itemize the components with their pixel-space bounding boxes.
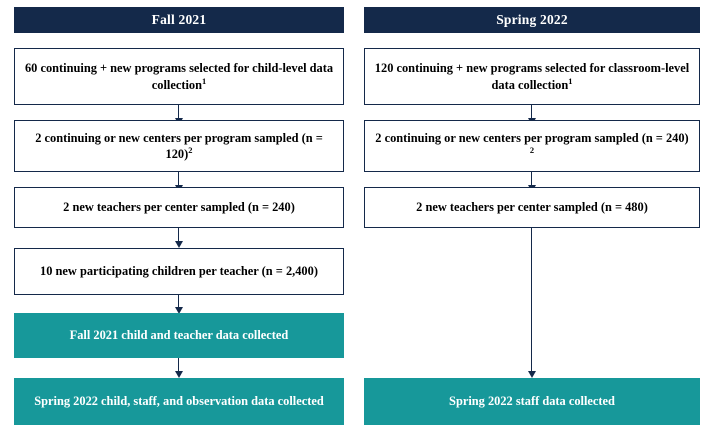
node-fall-programs-label: 60 continuing + new programs selected fo… bbox=[23, 60, 335, 93]
node-spring-centers: 2 continuing or new centers per program … bbox=[364, 120, 700, 172]
node-spring-teachers: 2 new teachers per center sampled (n = 4… bbox=[364, 187, 700, 228]
node-spring-staff-collected: Spring 2022 staff data collected bbox=[364, 378, 700, 425]
node-fall-centers-label: 2 continuing or new centers per program … bbox=[23, 130, 335, 163]
arrow-fall-teachers-to-children bbox=[178, 228, 179, 241]
arrow-spring-programs-to-centers bbox=[531, 105, 532, 118]
arrow-fall-children-to-collected bbox=[178, 295, 179, 307]
node-fall-children-label: 10 new participating children per teache… bbox=[23, 263, 335, 279]
node-fall-teachers-label: 2 new teachers per center sampled (n = 2… bbox=[23, 199, 335, 215]
node-spring-data-collected-left-label: Spring 2022 child, staff, and observatio… bbox=[22, 393, 336, 409]
node-spring-programs-label: 120 continuing + new programs selected f… bbox=[373, 60, 691, 93]
arrow-spring-centers-to-teachers bbox=[531, 172, 532, 185]
arrow-fall-programs-to-centers bbox=[178, 105, 179, 118]
node-spring-programs: 120 continuing + new programs selected f… bbox=[364, 48, 700, 105]
node-spring-teachers-label: 2 new teachers per center sampled (n = 4… bbox=[373, 199, 691, 215]
column-header-spring-2022: Spring 2022 bbox=[364, 7, 700, 33]
node-fall-centers: 2 continuing or new centers per program … bbox=[14, 120, 344, 172]
arrow-fall-centers-to-teachers bbox=[178, 172, 179, 185]
flowchart-diagram: Fall 2021 60 continuing + new programs s… bbox=[0, 0, 720, 432]
node-fall-programs: 60 continuing + new programs selected fo… bbox=[14, 48, 344, 105]
node-spring-centers-label: 2 continuing or new centers per program … bbox=[373, 130, 691, 163]
arrow-fall-collected-to-spring-collected bbox=[178, 358, 179, 371]
node-spring-data-collected-left: Spring 2022 child, staff, and observatio… bbox=[14, 378, 344, 425]
node-spring-staff-collected-label: Spring 2022 staff data collected bbox=[372, 393, 692, 409]
column-fall-2021: Fall 2021 60 continuing + new programs s… bbox=[14, 0, 344, 432]
arrow-spring-teachers-to-staff-collected bbox=[531, 228, 532, 371]
column-header-fall-2021: Fall 2021 bbox=[14, 7, 344, 33]
node-fall-children: 10 new participating children per teache… bbox=[14, 248, 344, 295]
node-fall-data-collected: Fall 2021 child and teacher data collect… bbox=[14, 313, 344, 358]
column-spring-2022: Spring 2022 120 continuing + new program… bbox=[364, 0, 700, 432]
node-fall-data-collected-label: Fall 2021 child and teacher data collect… bbox=[22, 327, 336, 343]
footnote-marker-1: 1 bbox=[202, 75, 206, 85]
footnote-marker-1: 1 bbox=[568, 75, 572, 85]
footnote-marker-2: 2 bbox=[530, 145, 534, 155]
node-fall-teachers: 2 new teachers per center sampled (n = 2… bbox=[14, 187, 344, 228]
footnote-marker-2: 2 bbox=[188, 145, 192, 155]
